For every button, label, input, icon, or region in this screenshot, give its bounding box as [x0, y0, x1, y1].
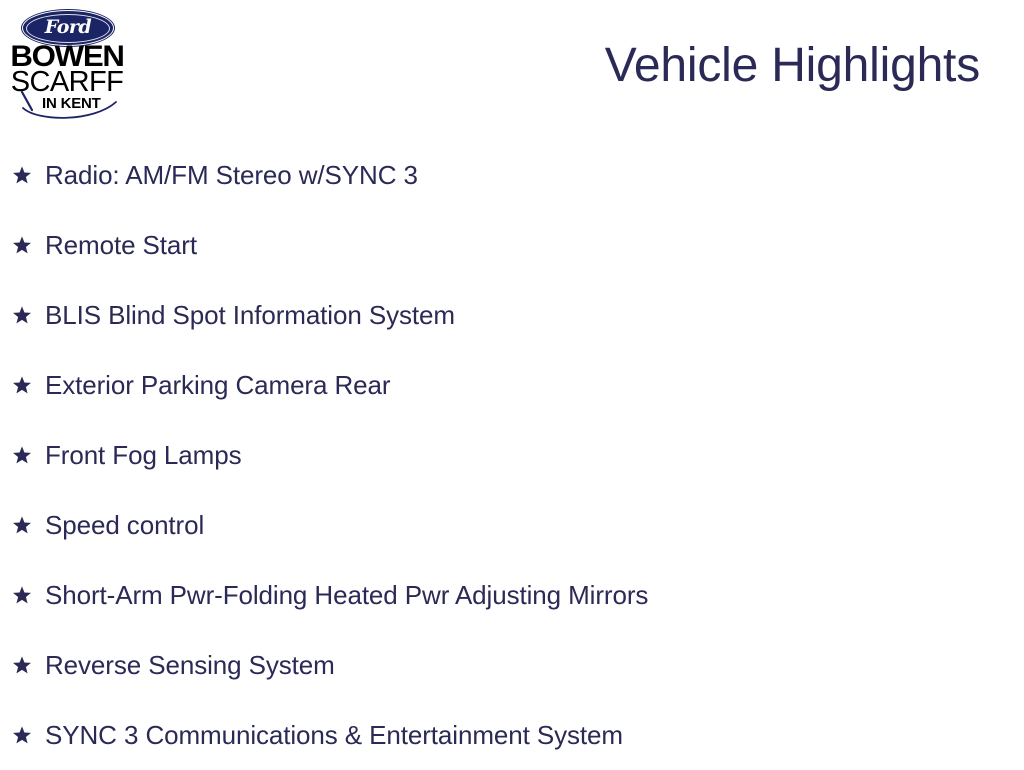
page-title: Vehicle Highlights — [605, 38, 980, 94]
highlight-item-label: Radio: AM/FM Stereo w/SYNC 3 — [45, 160, 418, 190]
vehicle-highlights-slide: Ford BOWEN SCARFF IN KENT Vehicle Highli… — [0, 0, 1024, 768]
star-icon — [12, 165, 32, 185]
star-icon — [12, 235, 32, 255]
highlight-list-item: Speed control — [0, 490, 1024, 560]
highlight-item-label: Speed control — [45, 510, 204, 540]
vehicle-highlights-list: Radio: AM/FM Stereo w/SYNC 3Remote Start… — [0, 140, 1024, 770]
dealer-name-line-3: IN KENT — [42, 96, 128, 111]
highlight-item-label: Exterior Parking Camera Rear — [45, 370, 390, 400]
ford-wordmark: Ford — [45, 18, 91, 37]
highlight-list-item: Reverse Sensing System — [0, 630, 1024, 700]
highlight-item-label: Short-Arm Pwr-Folding Heated Pwr Adjusti… — [45, 580, 648, 610]
highlight-list-item: Front Fog Lamps — [0, 420, 1024, 490]
highlight-item-label: BLIS Blind Spot Information System — [45, 300, 455, 330]
star-icon — [12, 725, 32, 745]
highlight-item-label: Reverse Sensing System — [45, 650, 335, 680]
highlight-list-item: BLIS Blind Spot Information System — [0, 280, 1024, 350]
dealer-logo: Ford BOWEN SCARFF IN KENT — [6, 4, 128, 122]
star-icon — [12, 585, 32, 605]
highlight-list-item: Remote Start — [0, 210, 1024, 280]
star-icon — [12, 445, 32, 465]
highlight-list-item: Short-Arm Pwr-Folding Heated Pwr Adjusti… — [0, 560, 1024, 630]
highlight-list-item: Radio: AM/FM Stereo w/SYNC 3 — [0, 140, 1024, 210]
star-icon — [12, 655, 32, 675]
highlight-item-label: Remote Start — [45, 230, 197, 260]
highlight-list-item: SYNC 3 Communications & Entertainment Sy… — [0, 700, 1024, 770]
highlight-list-item: Exterior Parking Camera Rear — [0, 350, 1024, 420]
star-icon — [12, 305, 32, 325]
highlight-item-label: Front Fog Lamps — [45, 440, 241, 470]
star-icon — [12, 515, 32, 535]
slide-header: Ford BOWEN SCARFF IN KENT Vehicle Highli… — [0, 0, 1024, 132]
star-icon — [12, 375, 32, 395]
highlight-item-label: SYNC 3 Communications & Entertainment Sy… — [45, 720, 623, 750]
